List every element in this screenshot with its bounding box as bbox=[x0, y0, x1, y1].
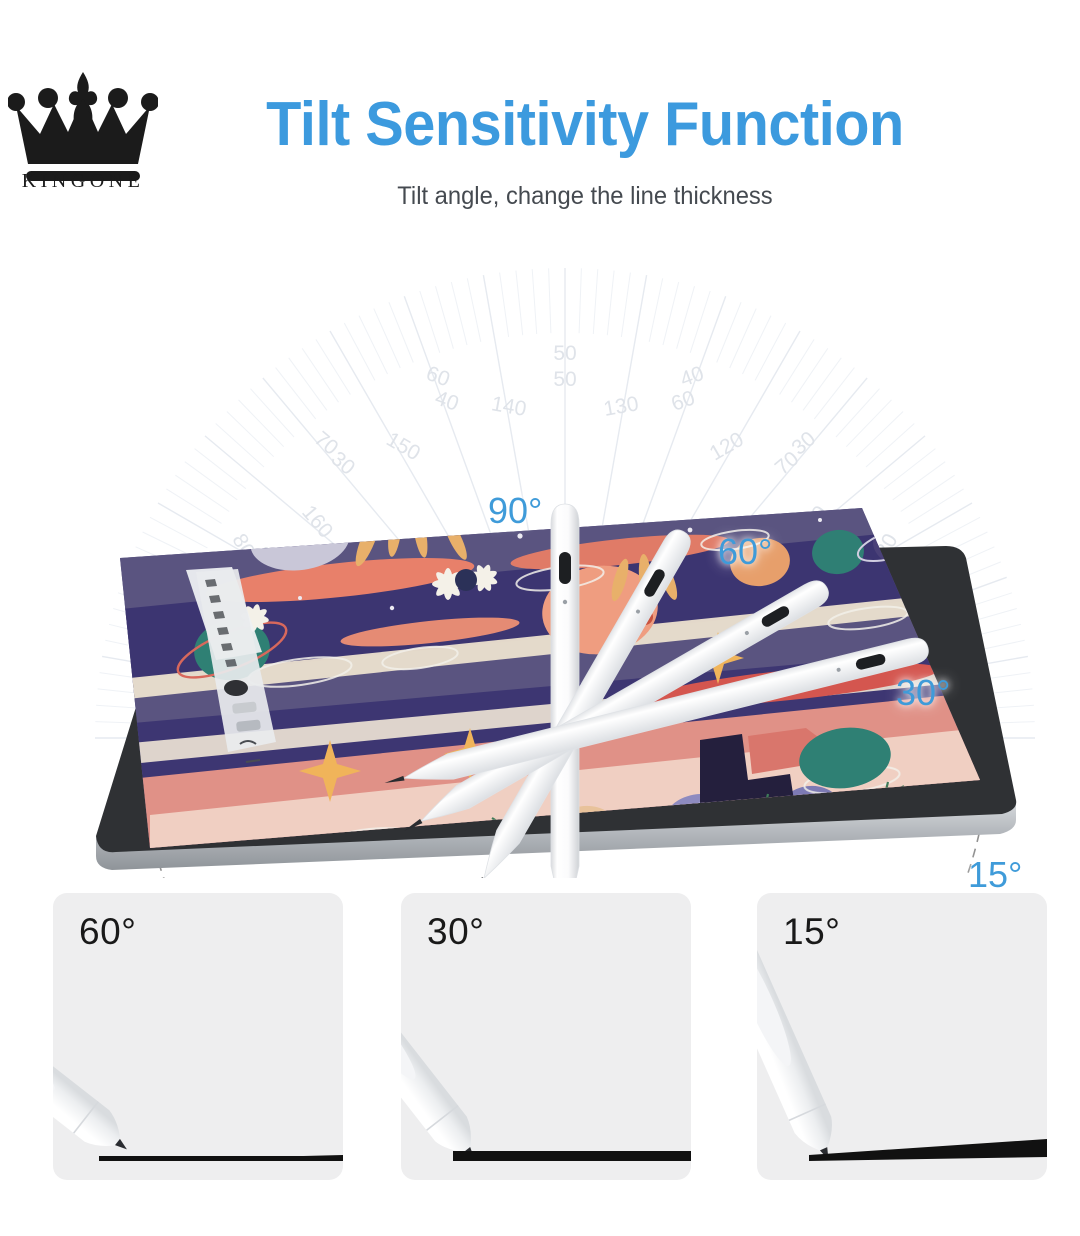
angle-example-panels: 60° 30° bbox=[0, 893, 1080, 1193]
angle-callout-30: 30° bbox=[896, 672, 950, 714]
tablet-and-stylus-group bbox=[0, 228, 1080, 878]
panel-label-30: 30° bbox=[427, 911, 484, 953]
angle-example-panel-15: 15° bbox=[757, 893, 1047, 1180]
brand-wordmark: KINGONE bbox=[8, 170, 158, 193]
angle-callout-90: 90° bbox=[488, 490, 542, 532]
panel-label-15: 15° bbox=[783, 911, 840, 953]
panel-label-60: 60° bbox=[79, 911, 136, 953]
page-subtitle: Tilt angle, change the line thickness bbox=[191, 182, 980, 211]
angle-callout-15: 15° bbox=[968, 854, 1022, 896]
hero-illustration: 1020304050607080901020304050607080100110… bbox=[0, 228, 1080, 878]
stylus-90 bbox=[551, 504, 579, 878]
page-title: Tilt Sensitivity Function bbox=[199, 92, 971, 158]
angle-example-panel-60: 60° bbox=[53, 893, 343, 1180]
page-header: KINGONE Tilt Sensitivity Function Tilt a… bbox=[0, 0, 1080, 240]
angle-callout-60: 60° bbox=[718, 531, 772, 573]
angle-example-panel-30: 30° bbox=[401, 893, 691, 1180]
